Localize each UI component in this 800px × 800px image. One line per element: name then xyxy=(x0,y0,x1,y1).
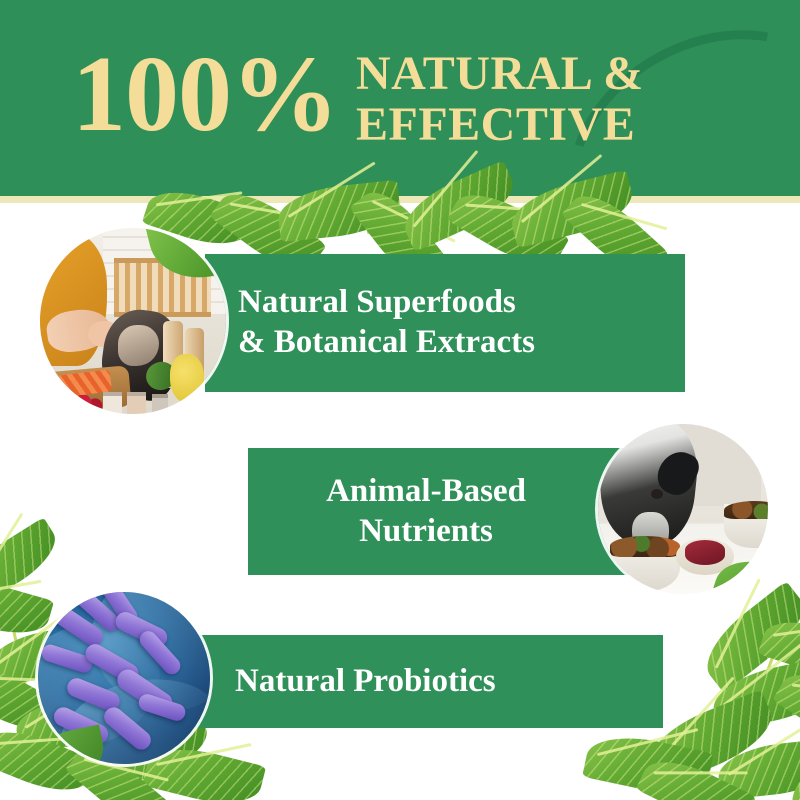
feature-bar-natural-probiotics: Natural Probiotics xyxy=(185,635,663,728)
header-headline: NATURAL & EFFECTIVE xyxy=(356,48,644,151)
feature-label-line1: Animal-Based xyxy=(326,472,526,512)
header-banner: 100% NATURAL & EFFECTIVE xyxy=(0,0,800,196)
feature-label: Natural Superfoods & Botanical Extracts xyxy=(238,283,535,362)
probiotic-bacteria-microscopy-photo xyxy=(38,592,210,764)
kibble-food xyxy=(724,501,768,520)
photo-scene xyxy=(38,592,210,764)
header-headline-line2: EFFECTIVE xyxy=(356,99,644,150)
dog-eye xyxy=(651,489,663,499)
feature-label: Animal-Based Nutrients xyxy=(326,472,526,551)
photo-scene xyxy=(40,228,226,414)
person-feeding-dog-in-kitchen-photo xyxy=(40,228,226,414)
photo-scene xyxy=(598,424,768,594)
infographic-canvas: 100% NATURAL & EFFECTIVE Natural Superfo… xyxy=(0,0,800,800)
header-percent: 100% xyxy=(72,41,338,149)
feature-bar-natural-superfoods: Natural Superfoods & Botanical Extracts xyxy=(205,254,685,392)
yellow-bell-pepper xyxy=(170,354,203,402)
feature-label-line2: & Botanical Extracts xyxy=(238,323,535,363)
spice-jar xyxy=(127,392,146,414)
feature-label-line1: Natural Probiotics xyxy=(235,662,496,702)
spice-jar xyxy=(152,394,169,414)
header-content: 100% NATURAL & EFFECTIVE xyxy=(0,0,800,196)
berries xyxy=(73,395,106,414)
raw-meat-patty xyxy=(685,540,726,566)
spice-jar xyxy=(103,392,122,414)
dog-eating-raw-food-bowls-photo xyxy=(598,424,768,594)
feature-label-line1: Natural Superfoods xyxy=(238,283,535,323)
feature-label: Natural Probiotics xyxy=(235,662,496,702)
kibble-food xyxy=(610,536,680,556)
header-headline-line1: NATURAL & xyxy=(356,48,644,99)
feature-label-line2: Nutrients xyxy=(326,512,526,552)
